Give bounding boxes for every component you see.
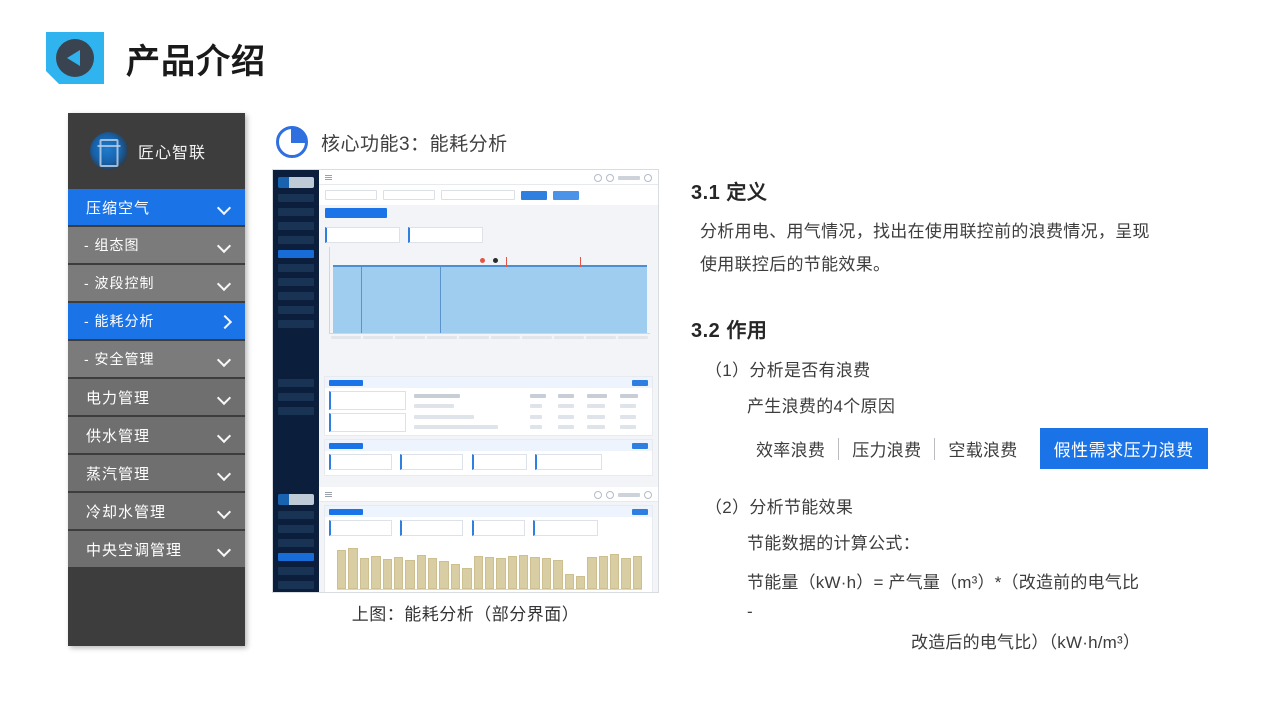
app-menu-item — [278, 264, 314, 272]
app-menu-item — [278, 379, 314, 387]
stat-card — [325, 227, 400, 243]
panel-title — [329, 509, 363, 515]
slide-header: 产品介绍 — [46, 32, 266, 84]
role-item-2-sub: 节能数据的计算公式： — [747, 529, 1236, 554]
formula-line-2: - — [747, 602, 1236, 622]
chevron-down-icon — [218, 201, 231, 214]
role-heading: 3.2 作用 — [691, 314, 1236, 343]
sidebar-item-label: 压缩空气 — [86, 197, 150, 218]
chart-x-axis — [331, 336, 648, 339]
nav-panel: 匠心智联 压缩空气 - 组态图 - 波段控制 - 能耗分析 - 安全管理 电力管… — [68, 113, 245, 646]
app-screenshot-group — [273, 170, 658, 592]
sidebar-item-cooling-water-management[interactable]: 冷却水管理 — [68, 493, 245, 531]
app-content — [319, 170, 658, 373]
sidebar-item-energy-analysis[interactable]: - 能耗分析 — [68, 303, 245, 341]
app-screenshot-bar-tan — [273, 487, 658, 592]
stat-card — [408, 227, 483, 243]
app-menu-item — [278, 292, 314, 300]
app-menu-item-active — [278, 553, 314, 561]
app-menu-item — [278, 539, 314, 547]
app-menu-item — [278, 222, 314, 230]
sidebar-item-water-supply-management[interactable]: 供水管理 — [68, 417, 245, 455]
filter-select-1[interactable] — [325, 190, 377, 200]
app-menu-item — [278, 567, 314, 575]
app-menu-item — [278, 278, 314, 286]
sidebar-item-label: 蒸汽管理 — [86, 463, 150, 484]
table-row — [411, 412, 648, 422]
sidebar-item-label: 电力管理 — [86, 387, 150, 408]
app-sidebar — [273, 373, 319, 487]
chevron-down-icon — [218, 391, 231, 404]
panel-body — [325, 451, 652, 475]
stat-card — [472, 454, 527, 470]
slide-root: 产品介绍 匠心智联 压缩空气 - 组态图 - 波段控制 - 能耗分析 - 安全管… — [0, 0, 1280, 720]
content-column: 3.1 定义 分析用电、用气情况，找出在使用联控前的浪费情况，呈现 使用联控后的… — [691, 176, 1236, 653]
reset-button[interactable] — [553, 191, 579, 200]
tab-active[interactable] — [325, 208, 387, 218]
brand-logo-icon — [90, 132, 128, 170]
app-logo-icon — [278, 494, 314, 505]
section-heading: 核心功能3：能耗分析 — [276, 126, 508, 158]
panel-body — [325, 517, 652, 541]
sidebar-item-power-management[interactable]: 电力管理 — [68, 379, 245, 417]
hamburger-icon — [325, 492, 332, 497]
panel-action-button[interactable] — [632, 380, 648, 386]
reason-pressure-waste[interactable]: 压力浪费 — [839, 436, 934, 461]
app-menu-item — [278, 393, 314, 401]
app-topbar — [319, 170, 658, 185]
sidebar-item-label: 冷却水管理 — [86, 501, 166, 522]
app-screenshot-top — [273, 170, 658, 373]
play-back-triangle-icon — [56, 39, 94, 77]
sidebar-item-label: - 能耗分析 — [84, 311, 155, 331]
definition-line-1: 分析用电、用气情况，找出在使用联控前的浪费情况，呈现 — [700, 215, 1236, 248]
avatar — [644, 491, 652, 499]
sidebar-item-configuration-diagram[interactable]: - 组态图 — [68, 227, 245, 265]
panel-header — [325, 440, 652, 451]
app-topbar — [319, 487, 658, 502]
app-tab-strip — [319, 205, 658, 223]
app-menu-item — [278, 525, 314, 533]
filter-select-2[interactable] — [383, 190, 435, 200]
app-panel-table — [324, 376, 653, 436]
spike-marker — [506, 257, 507, 267]
pie-chart-icon — [276, 126, 308, 158]
panel-action-button[interactable] — [632, 509, 648, 515]
stat-card — [329, 413, 406, 432]
panel-header — [325, 377, 652, 388]
stat-card — [472, 520, 525, 536]
chevron-down-icon — [218, 239, 231, 252]
definition-heading: 3.1 定义 — [691, 176, 1236, 205]
definition-line-2: 使用联控后的节能效果。 — [700, 248, 1236, 281]
bar-chart-tan — [337, 545, 642, 590]
search-icon — [594, 174, 602, 182]
app-stat-cards — [319, 223, 658, 243]
stat-card — [535, 454, 602, 470]
sidebar-item-compressed-air[interactable]: 压缩空气 — [68, 189, 245, 227]
app-filter-row — [319, 185, 658, 205]
panel-action-button[interactable] — [632, 443, 648, 449]
data-table — [411, 391, 648, 432]
app-topbar-right — [594, 491, 652, 499]
formula-line-3: 改造后的电气比）（kW·h/m³） — [911, 628, 1236, 653]
app-panel-gas-chart — [324, 505, 653, 592]
stat-card — [329, 520, 392, 536]
stat-card — [329, 454, 392, 470]
chevron-down-icon — [218, 429, 231, 442]
stat-card — [400, 454, 463, 470]
area-series — [333, 265, 647, 333]
table-row — [411, 401, 648, 411]
app-content — [319, 373, 658, 487]
chevron-right-icon — [218, 315, 231, 328]
stat-card — [329, 391, 406, 410]
sidebar-item-safety-management[interactable]: - 安全管理 — [68, 341, 245, 379]
sidebar-item-label: - 波段控制 — [84, 273, 155, 293]
panel-header — [325, 506, 652, 517]
app-screenshot-middle — [273, 373, 658, 487]
app-menu-item — [278, 511, 314, 519]
stat-card — [533, 520, 598, 536]
role-item-1: （1）分析是否有浪费 — [705, 356, 1236, 381]
table-row — [411, 391, 648, 401]
sidebar-item-label: 供水管理 — [86, 425, 150, 446]
screenshot-caption: 上图：能耗分析（部分界面） — [273, 600, 658, 625]
avatar — [644, 174, 652, 182]
user-name-text — [618, 176, 640, 180]
app-menu-item — [278, 581, 314, 589]
spike-marker — [580, 257, 581, 267]
chevron-down-icon — [218, 277, 231, 290]
query-button[interactable] — [521, 191, 547, 200]
help-icon — [606, 174, 614, 182]
role-item-1-sub: 产生浪费的4个原因 — [747, 392, 1236, 417]
table-row — [411, 422, 648, 432]
app-panel-stats — [324, 439, 653, 476]
app-topbar-right — [594, 174, 652, 182]
summary-cards — [329, 391, 406, 432]
app-sidebar — [273, 487, 319, 592]
chevron-down-icon — [218, 467, 231, 480]
help-icon — [606, 491, 614, 499]
reason-efficiency-waste[interactable]: 效率浪费 — [743, 436, 838, 461]
sidebar-item-label: - 安全管理 — [84, 349, 155, 369]
chevron-down-icon — [218, 543, 231, 556]
sidebar-item-band-control[interactable]: - 波段控制 — [68, 265, 245, 303]
stat-card — [400, 520, 463, 536]
section-heading-label: 核心功能3：能耗分析 — [321, 129, 508, 156]
chevron-down-icon — [218, 505, 231, 518]
app-menu-item — [278, 236, 314, 244]
panel-title — [329, 443, 363, 449]
formula-line-1: 节能量（kW·h）= 产气量（m³）*（改造前的电气比 — [747, 568, 1236, 598]
reason-false-demand-pressure-waste[interactable]: 假性需求压力浪费 — [1040, 428, 1208, 469]
app-area-chart — [319, 247, 658, 339]
sidebar-item-label: - 组态图 — [84, 235, 140, 255]
date-range-input[interactable] — [441, 190, 515, 200]
sidebar-item-label: 中央空调管理 — [86, 539, 182, 560]
app-menu-item — [278, 194, 314, 202]
role-item-2: （2）分析节能效果 — [705, 493, 1236, 518]
reason-idle-waste[interactable]: 空载浪费 — [935, 436, 1030, 461]
panel-body — [325, 388, 652, 435]
chart-plot-area — [329, 247, 650, 334]
app-menu-item — [278, 208, 314, 216]
search-icon — [594, 491, 602, 499]
sidebar-item-hvac-management[interactable]: 中央空调管理 — [68, 531, 245, 569]
app-sidebar — [273, 170, 319, 373]
triangle-glyph — [67, 50, 80, 66]
header-badge — [46, 32, 104, 84]
app-menu-item — [278, 306, 314, 314]
brand-name: 匠心智联 — [138, 139, 206, 163]
app-menu-item-active — [278, 250, 314, 258]
user-name-text — [618, 493, 640, 497]
app-menu-item — [278, 320, 314, 328]
panel-title — [329, 380, 363, 386]
hamburger-icon — [325, 175, 332, 180]
nav-brand: 匠心智联 — [68, 113, 245, 189]
app-logo-icon — [278, 177, 314, 188]
page-title: 产品介绍 — [126, 34, 266, 83]
app-menu-item — [278, 407, 314, 415]
app-content — [319, 487, 658, 592]
sidebar-item-steam-management[interactable]: 蒸汽管理 — [68, 455, 245, 493]
waste-reason-list: 效率浪费 压力浪费 空载浪费 假性需求压力浪费 — [743, 428, 1236, 469]
chevron-down-icon — [218, 353, 231, 366]
